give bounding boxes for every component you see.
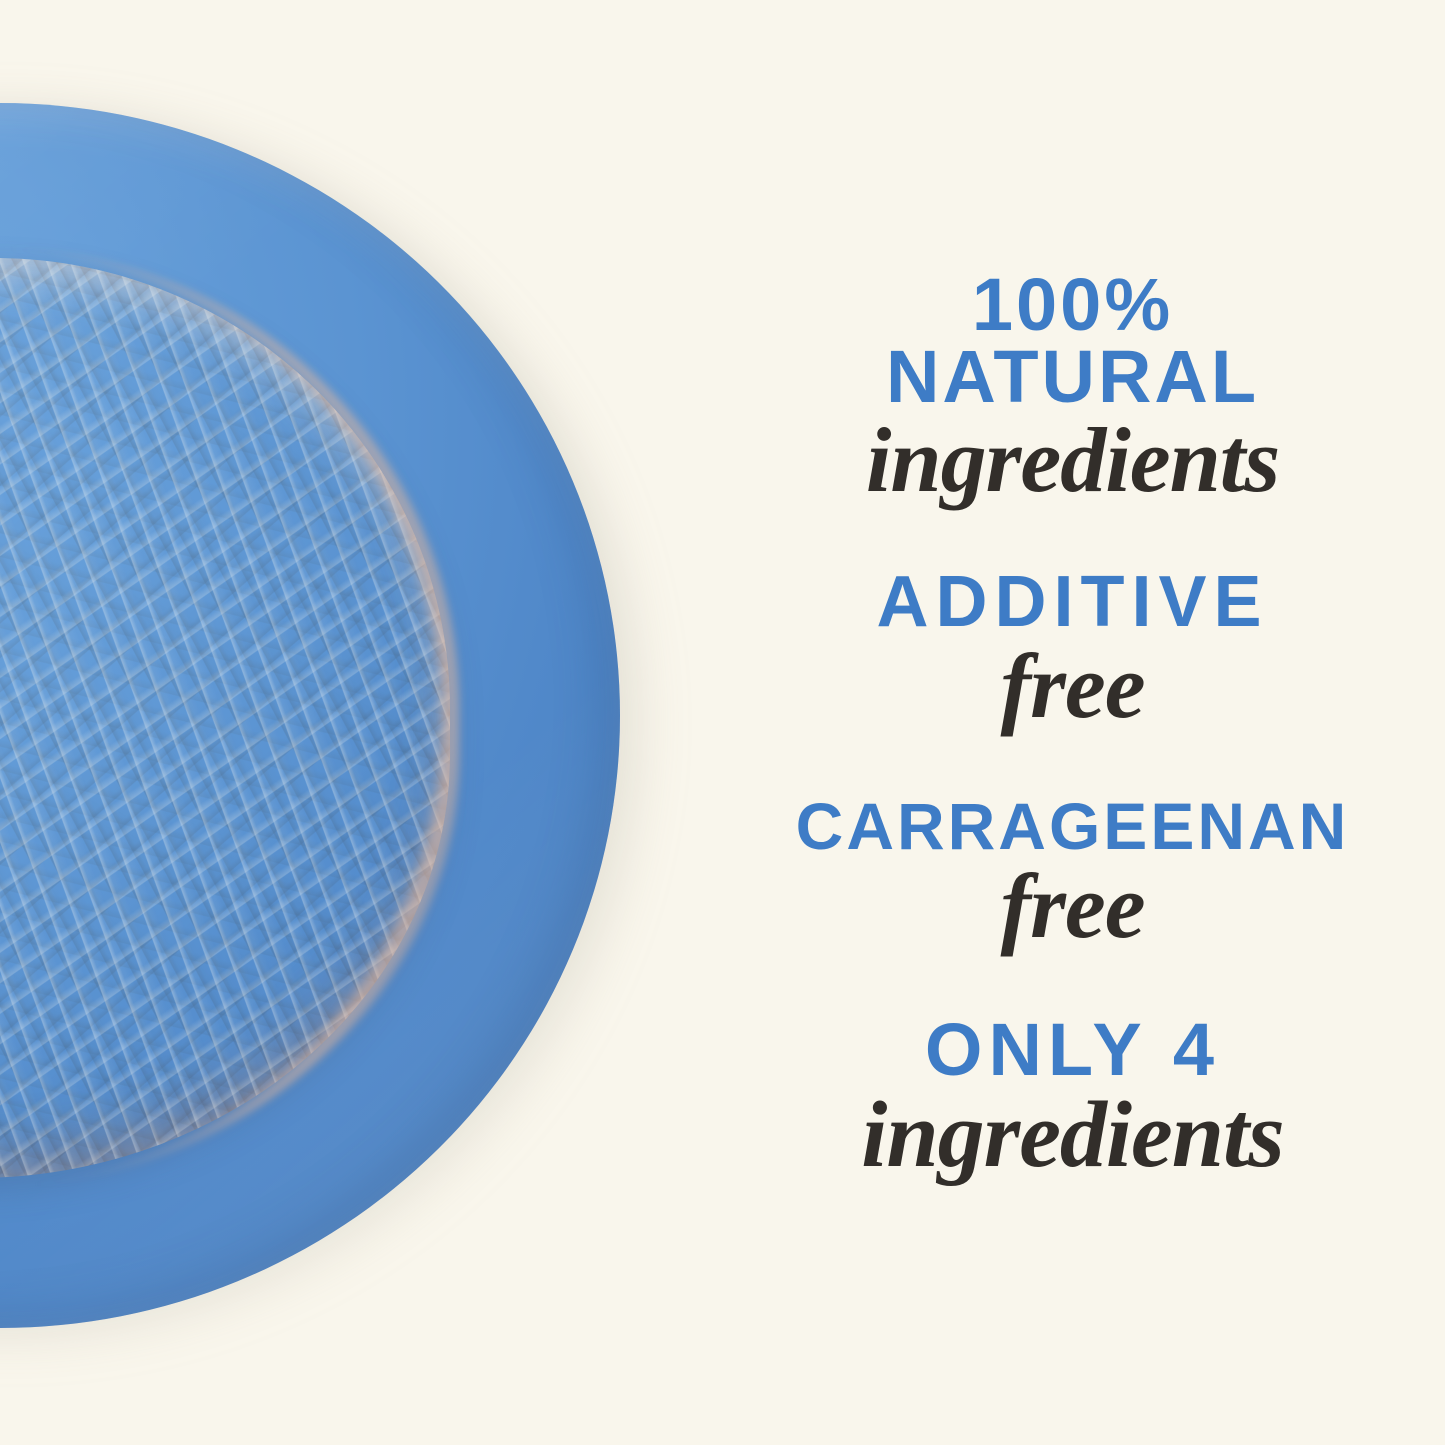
- claim-additive-free: ADDITIVE free: [700, 568, 1445, 732]
- product-photo: [0, 0, 760, 1445]
- claim-script-text: free: [700, 860, 1445, 952]
- claim-only-four-ingredients: ONLY 4 ingredients: [700, 1014, 1445, 1182]
- claim-natural-ingredients: 100% NATURAL ingredients: [700, 269, 1445, 507]
- claim-primary-text: CARRAGEENAN: [700, 794, 1445, 858]
- food-highlight-texture: [0, 258, 450, 1178]
- claim-carrageenan-free: CARRAGEENAN free: [700, 794, 1445, 952]
- claim-script-text: free: [700, 640, 1445, 732]
- claims-column: 100% NATURAL ingredients ADDITIVE free C…: [700, 0, 1445, 1445]
- product-feature-graphic: 100% NATURAL ingredients ADDITIVE free C…: [0, 0, 1445, 1445]
- claim-script-text: ingredients: [700, 414, 1445, 506]
- food-serving: [0, 258, 450, 1178]
- claim-script-text: ingredients: [700, 1088, 1445, 1182]
- claim-primary-text: ONLY 4: [700, 1014, 1445, 1086]
- claim-primary-text: 100% NATURAL: [700, 269, 1445, 413]
- claim-primary-text: ADDITIVE: [700, 568, 1445, 638]
